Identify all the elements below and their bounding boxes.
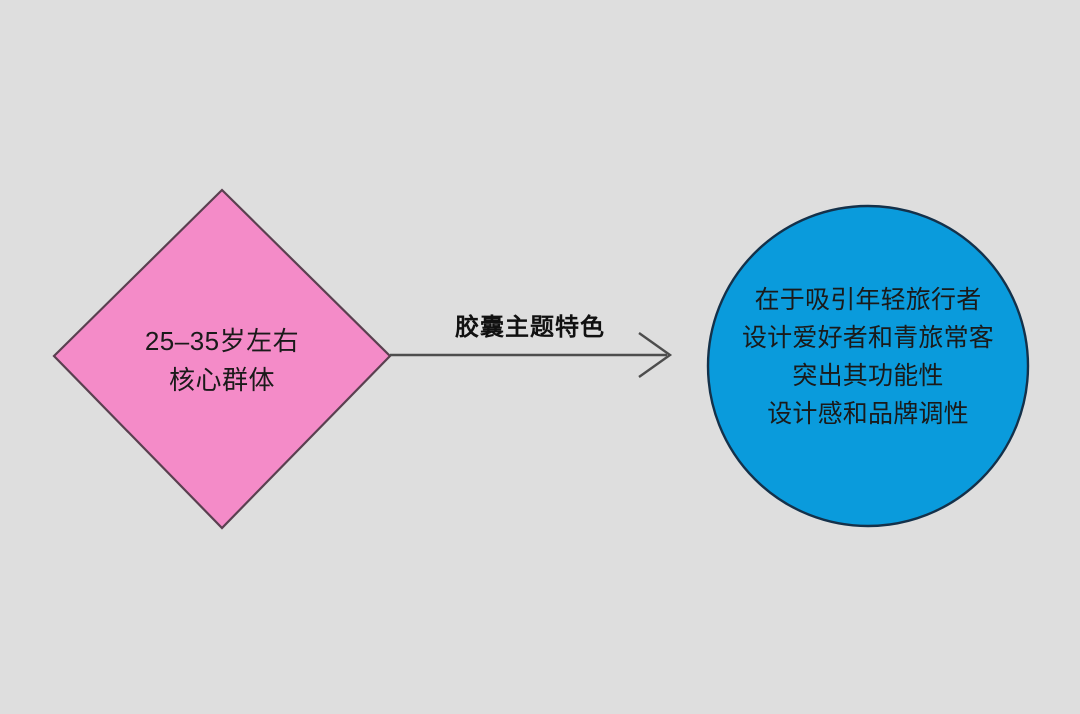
node-audience-diamond[interactable] [54, 190, 390, 528]
diagram-canvas: 25–35岁左右 核心群体 在于吸引年轻旅行者 设计爱好者和青旅常客 突出其功能… [0, 0, 1080, 714]
edge-label: 胶囊主题特色 [400, 307, 660, 342]
diagram-shapes [0, 0, 1080, 714]
node-theme-circle[interactable] [708, 206, 1028, 526]
